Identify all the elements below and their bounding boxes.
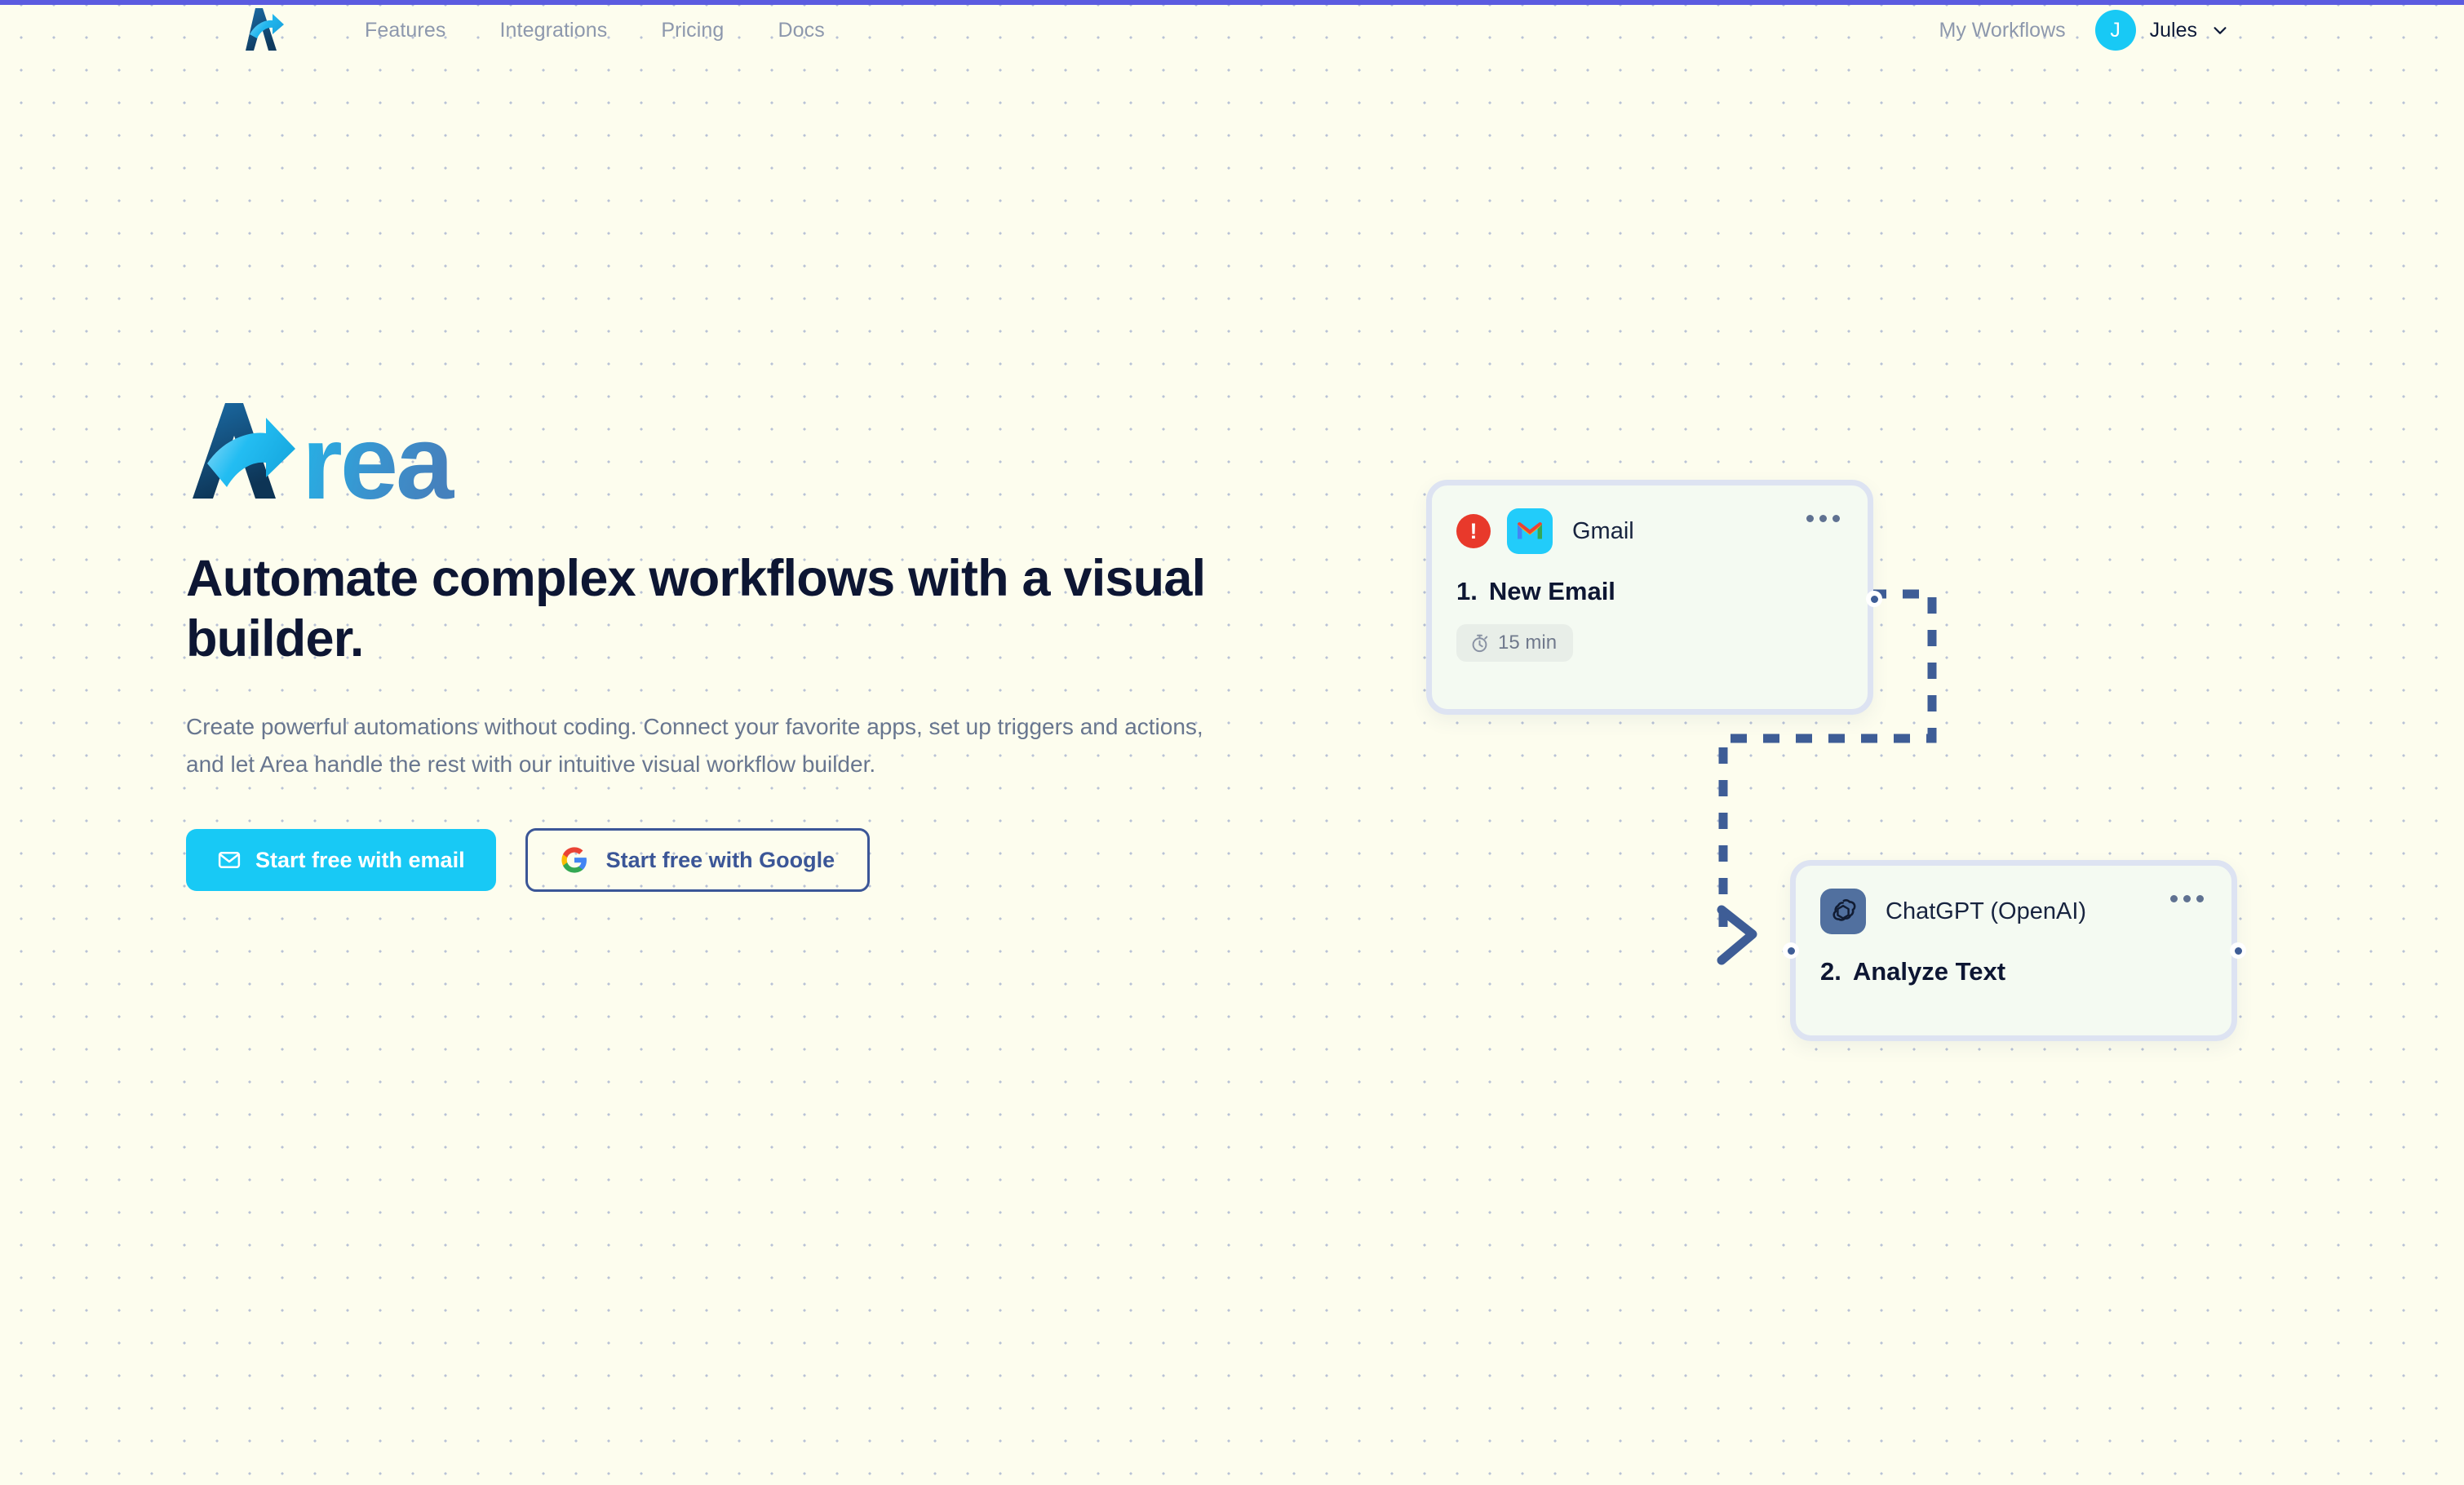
node-step: 2.Analyze Text — [1796, 934, 2231, 986]
cta-row: Start free with email Start free with Go… — [186, 828, 1296, 892]
top-accent-bar — [0, 0, 2464, 5]
node-app-name: Gmail — [1572, 518, 1634, 545]
node-output-port-gmail[interactable] — [1866, 591, 1882, 607]
nav-link-features[interactable]: Features — [365, 19, 445, 42]
start-free-with-email-button[interactable]: Start free with email — [186, 829, 496, 891]
stopwatch-icon — [1469, 633, 1490, 654]
avatar: J — [2095, 10, 2136, 51]
node-step: 1.New Email — [1432, 554, 1868, 606]
node-duration-badge: 15 min — [1456, 624, 1573, 662]
user-name: Jules — [2150, 19, 2197, 42]
node-step-number: 1. — [1456, 577, 1478, 605]
node-app-name: ChatGPT (OpenAI) — [1886, 898, 2086, 925]
user-menu[interactable]: J Jules — [2095, 10, 2229, 51]
error-badge-icon: ! — [1456, 514, 1491, 548]
hero-section: rea Automate complex workflows with a vi… — [186, 400, 1296, 892]
page-title: Automate complex workflows with a visual… — [186, 549, 1214, 669]
nav-right-cluster: My Workflows J Jules — [1939, 5, 2229, 55]
start-free-with-email-label: Start free with email — [255, 848, 465, 873]
nav-link-my-workflows[interactable]: My Workflows — [1939, 19, 2066, 42]
workflow-node-gmail[interactable]: ! Gmail 1.New Email — [1426, 480, 1873, 715]
gmail-icon — [1507, 508, 1553, 554]
nav-link-integrations[interactable]: Integrations — [499, 19, 607, 42]
nav-links: Features Integrations Pricing Docs — [365, 5, 825, 55]
google-icon — [561, 846, 588, 874]
node-step-number: 2. — [1820, 957, 1841, 986]
node-menu-icon[interactable] — [1806, 515, 1840, 522]
node-step-name: Analyze Text — [1853, 957, 2005, 986]
envelope-icon — [217, 848, 242, 872]
node-duration-label: 15 min — [1498, 632, 1557, 654]
node-output-port-chatgpt[interactable] — [2230, 942, 2246, 959]
svg-text:rea: rea — [302, 405, 454, 502]
node-step-name: New Email — [1489, 577, 1615, 605]
hero-description: Create powerful automations without codi… — [186, 708, 1239, 782]
node-header: ! Gmail — [1432, 485, 1868, 554]
node-header: ChatGPT (OpenAI) — [1796, 866, 2231, 934]
workflow-node-chatgpt[interactable]: ChatGPT (OpenAI) 2.Analyze Text — [1790, 860, 2237, 1041]
node-input-port-chatgpt[interactable] — [1783, 942, 1799, 959]
area-logo-icon[interactable] — [235, 3, 287, 55]
nav-link-docs[interactable]: Docs — [778, 19, 824, 42]
top-navigation: Features Integrations Pricing Docs My Wo… — [0, 5, 2464, 55]
start-free-with-google-label: Start free with Google — [606, 848, 835, 873]
node-menu-icon[interactable] — [2170, 895, 2204, 902]
area-wordmark: rea — [186, 400, 470, 502]
nav-link-pricing[interactable]: Pricing — [661, 19, 724, 42]
start-free-with-google-button[interactable]: Start free with Google — [525, 828, 871, 892]
openai-icon — [1820, 889, 1866, 934]
chevron-down-icon — [2211, 21, 2229, 39]
